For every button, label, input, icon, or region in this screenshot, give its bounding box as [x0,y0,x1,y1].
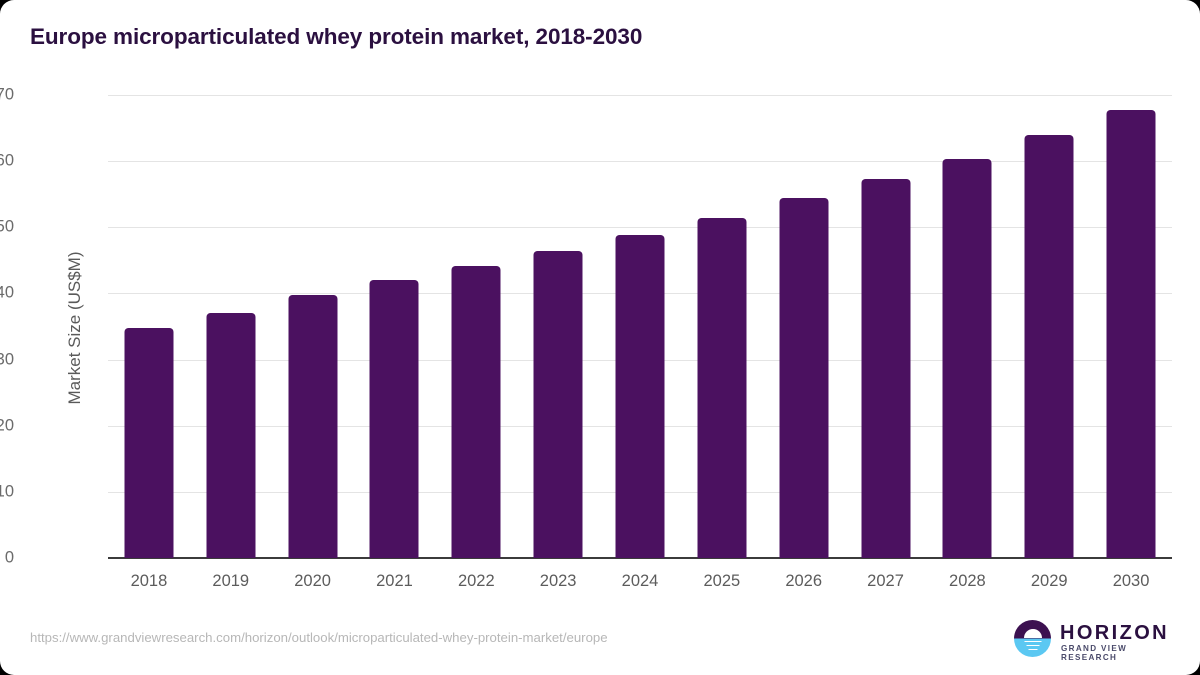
source-url[interactable]: https://www.grandviewresearch.com/horizo… [30,630,608,645]
sun-dome-shape [1024,629,1042,638]
y-axis-tick-label: 0 [0,549,14,568]
x-axis-tick-label: 2024 [595,572,685,591]
horizon-logo[interactable]: HORIZON GRAND VIEW RESEARCH [1012,617,1172,659]
bar-slot [599,95,681,558]
bar-2024[interactable] [615,235,664,558]
x-axis-tick-label: 2028 [922,572,1012,591]
x-axis-tick-label: 2027 [841,572,931,591]
bar-slot [354,95,436,558]
x-axis-tick-label: 2026 [759,572,849,591]
bar-slot [845,95,927,558]
y-axis-tick-label: 40 [0,284,14,303]
bar-2028[interactable] [943,159,992,559]
bar-2021[interactable] [370,280,419,558]
x-axis-tick-label: 2022 [431,572,521,591]
logo-wordmark: HORIZON [1060,622,1169,645]
bar-slot [435,95,517,558]
bar-2027[interactable] [861,179,910,558]
plot-region [108,95,1172,558]
y-axis-tick-label: 10 [0,482,14,501]
x-axis-tick-label: 2025 [677,572,767,591]
y-axis-tick-label: 30 [0,350,14,369]
logo-ray-2 [1026,645,1039,647]
bar-2020[interactable] [288,295,337,558]
bar-2019[interactable] [206,313,255,558]
y-axis-tick-label: 20 [0,416,14,435]
bar-slot [681,95,763,558]
bar-2025[interactable] [697,218,746,558]
y-axis-tick-label: 60 [0,152,14,171]
bar-slot [1008,95,1090,558]
x-axis-tick-label: 2018 [104,572,194,591]
logo-ray-3 [1028,649,1037,651]
bar-slot [190,95,272,558]
bar-2029[interactable] [1025,135,1074,558]
bar-slot [763,95,845,558]
y-axis-tick-label: 70 [0,86,14,105]
bar-2023[interactable] [534,251,583,558]
bar-2018[interactable] [124,328,173,558]
bar-slot [272,95,354,558]
bar-slot [108,95,190,558]
chart-card: Europe microparticulated whey protein ma… [0,0,1200,675]
x-axis-tick-label: 2030 [1086,572,1176,591]
bar-slot [1090,95,1172,558]
bar-series [108,95,1172,558]
x-axis-tick-label: 2023 [513,572,603,591]
horizon-logo-icon [1014,620,1051,657]
x-axis-tick-label: 2029 [1004,572,1094,591]
x-axis-tick-label: 2021 [349,572,439,591]
chart-area: Market Size (US$M) 010203040506070 20182… [0,0,1200,675]
bar-slot [926,95,1008,558]
x-axis-tick-label: 2020 [268,572,358,591]
bar-slot [517,95,599,558]
bar-2026[interactable] [779,198,828,558]
bar-2030[interactable] [1107,110,1156,558]
logo-ray-1 [1024,641,1041,643]
x-axis-tick-label: 2019 [186,572,276,591]
logo-subtitle: GRAND VIEW RESEARCH [1061,644,1172,662]
y-axis-tick-label: 50 [0,218,14,237]
y-axis-title: Market Size (US$M) [65,98,85,558]
bar-2022[interactable] [452,266,501,558]
